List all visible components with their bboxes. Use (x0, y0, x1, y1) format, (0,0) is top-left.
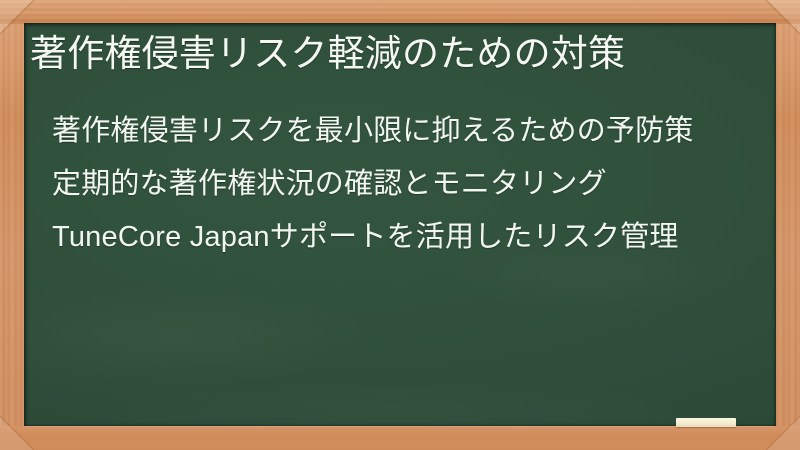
slide-body-line-2: 定期的な著作権状況の確認とモニタリング (52, 158, 752, 211)
chalkboard-slide: 著作権侵害リスク軽減のための対策 著作権侵害リスクを最小限に抑えるための予防策 … (0, 0, 800, 450)
chalkboard-content: 著作権侵害リスク軽減のための対策 著作権侵害リスクを最小限に抑えるための予防策 … (24, 23, 776, 426)
frame-rail-top (0, 0, 800, 24)
slide-body-line-1: 著作権侵害リスクを最小限に抑えるための予防策 (52, 105, 752, 158)
slide-title: 著作権侵害リスク軽減のための対策 (30, 31, 760, 77)
frame-ledge-bottom (0, 426, 800, 450)
chalk-stick-icon (676, 418, 736, 427)
chalkboard-surface: 著作権侵害リスク軽減のための対策 著作権侵害リスクを最小限に抑えるための予防策 … (24, 23, 776, 426)
slide-body-line-3: TuneCore Japanサポートを活用したリスク管理 (52, 211, 752, 264)
slide-body-list: 著作権侵害リスクを最小限に抑えるための予防策 定期的な著作権状況の確認とモニタリ… (52, 105, 752, 264)
